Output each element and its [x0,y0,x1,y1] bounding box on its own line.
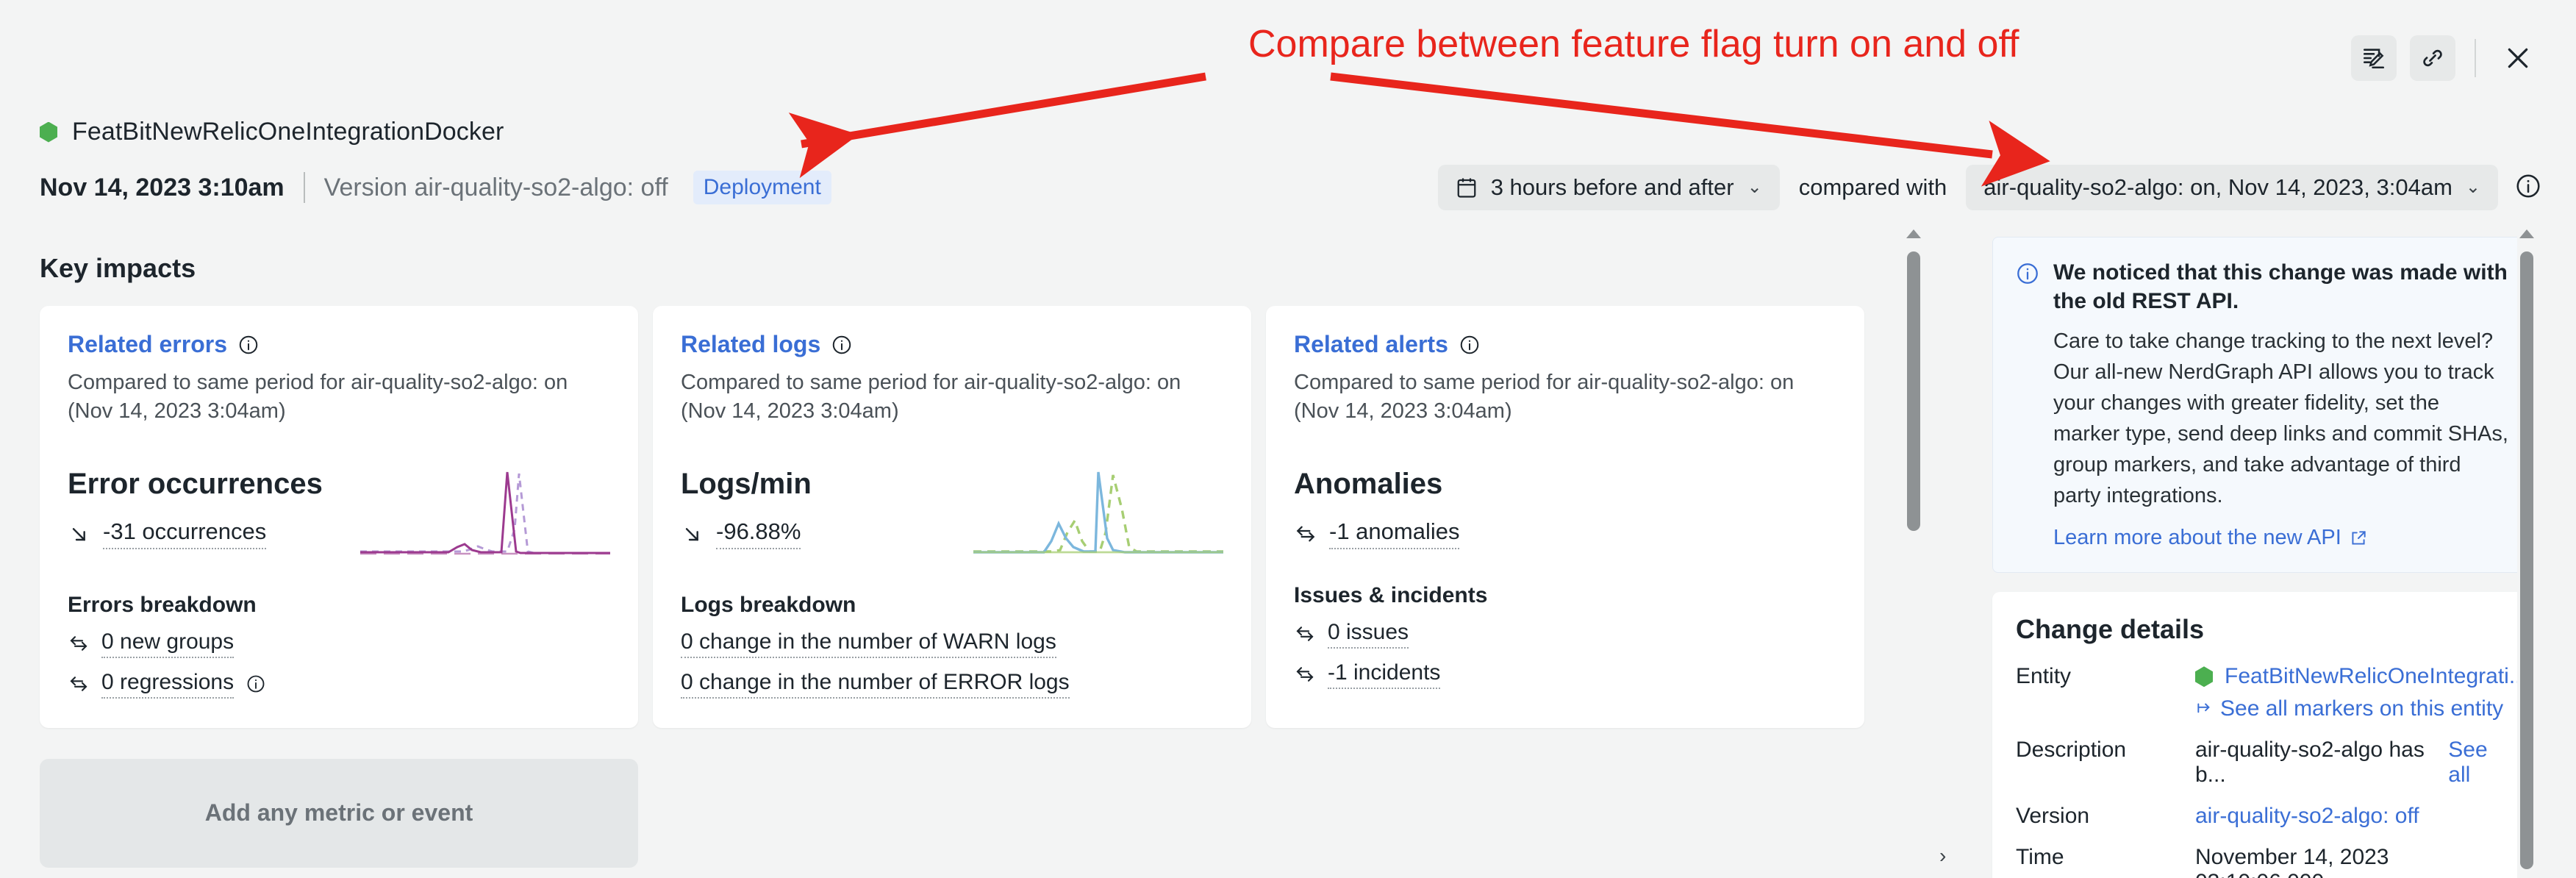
change-details-card: Change details Entity FeatBitNewRelicOne… [1992,592,2533,878]
annotation-text: Compare between feature flag turn on and… [1248,22,2019,66]
arrow-down-right-icon [68,522,91,546]
card-subtitle: Compared to same period for air-quality-… [68,368,582,426]
related-errors-link[interactable]: Related errors [68,331,260,358]
card-link-label: Related logs [681,331,820,358]
details-sidebar: We noticed that this change was made wit… [1969,221,2576,878]
card-subtitle: Compared to same period for air-quality-… [681,368,1195,426]
breakdown-label: -1 incidents [1328,660,1440,689]
compared-with-label: compared with [1780,174,1967,201]
breakdown-title: Issues & incidents [1294,583,1836,608]
card-link-label: Related errors [68,331,227,358]
change-meta-row: Nov 14, 2023 3:10am Version air-quality-… [40,168,831,207]
breakdown-item[interactable]: 0 change in the number of WARN logs [681,629,1223,658]
window-controls [2351,35,2541,81]
scroll-up-arrow-icon[interactable] [1906,229,1921,238]
change-details-title: Change details [2016,614,2510,645]
page-title: Key impacts [40,253,1892,284]
breakdown-title: Errors breakdown [68,593,610,618]
rest-api-notice: We noticed that this change was made wit… [1992,237,2533,573]
sidebar-scrollbar[interactable] [2517,229,2536,878]
info-icon[interactable] [1459,334,1481,356]
entity-status-icon [40,122,57,143]
close-icon[interactable] [2495,35,2541,81]
entity-link[interactable]: FeatBitNewRelicOneIntegrati... [2225,664,2527,689]
breakdown-item[interactable]: -1 incidents [1294,660,1836,689]
chevron-down-icon: ⌄ [1747,179,1762,196]
entity-header: FeatBitNewRelicOneIntegrationDocker [40,118,504,146]
breakdown-title: Logs breakdown [681,593,1223,618]
time-range-selector[interactable]: 3 hours before and after ⌄ [1438,165,1780,210]
arrow-flat-icon [68,673,90,695]
notice-body-text: Care to take change tracking to the next… [2053,326,2511,511]
metric-delta[interactable]: -1 anomalies [1294,518,1459,549]
metric-block: Logs/min -96.88% [681,465,1223,559]
sparkline-logs-per-min [973,465,1223,559]
info-icon[interactable] [237,334,260,356]
metric-delta[interactable]: -96.88% [681,518,812,549]
time-value: November 14, 2023 03:10:06.000 [2195,845,2510,878]
info-icon[interactable] [2514,172,2542,204]
arrow-flat-icon [1294,522,1317,546]
delta-value: -1 anomalies [1329,518,1459,549]
see-all-link[interactable]: See all [2448,738,2510,788]
sparkline-error-occurrences [360,465,610,559]
see-all-markers-label: See all markers on this entity [2220,696,2503,721]
key-impact-cards: Related errors Compared to same period f… [40,306,1892,728]
metric-delta[interactable]: -31 occurrences [68,518,323,549]
time-range-label: 3 hours before and after [1491,174,1734,201]
breakdown-item[interactable]: 0 change in the number of ERROR logs [681,670,1223,699]
expand-chevron-icon[interactable]: › [1939,844,1946,868]
main-scrollbar[interactable] [1904,229,1923,878]
delta-value: -96.88% [716,518,801,549]
metric-block: Anomalies -1 anomalies [1294,465,1836,549]
delta-value: -31 occurrences [103,518,266,549]
notice-title: We noticed that this change was made wit… [2053,258,2511,315]
metric-title: Anomalies [1294,468,1459,501]
card-subtitle: Compared to same period for air-quality-… [1294,368,1808,426]
comparison-selector[interactable]: air-quality-so2-algo: on, Nov 14, 2023, … [1966,165,2498,210]
see-all-markers-link[interactable]: See all markers on this entity [2195,696,2527,721]
status-badge: Deployment [693,171,831,204]
info-icon[interactable] [831,334,853,356]
breakdown-label: 0 new groups [101,629,234,658]
edit-note-icon[interactable] [2351,35,2397,81]
change-tracking-panel: FeatBitNewRelicOneIntegrationDocker Nov … [0,0,2576,878]
change-date: Nov 14, 2023 3:10am [40,174,285,202]
detail-row-entity: Entity FeatBitNewRelicOneIntegrati... Se… [2016,664,2510,721]
scroll-up-arrow-icon[interactable] [2519,229,2534,238]
external-link-icon [2349,529,2368,548]
detail-label: Entity [2016,664,2195,689]
learn-more-link[interactable]: Learn more about the new API [2053,526,2368,550]
related-alerts-link[interactable]: Related alerts [1294,331,1481,358]
arrow-flat-icon [1294,623,1316,645]
scrollbar-thumb[interactable] [1907,251,1920,531]
arrow-branch-icon [2195,699,2214,718]
breakdown-item[interactable]: 0 new groups [68,629,610,658]
version-link[interactable]: air-quality-so2-algo: off [2195,804,2510,829]
entity-status-icon [2195,666,2213,687]
info-icon[interactable] [246,674,266,694]
related-logs-link[interactable]: Related logs [681,331,853,358]
breakdown-item[interactable]: 0 issues [1294,620,1836,649]
breakdown-label: 0 change in the number of ERROR logs [681,670,1070,699]
link-icon[interactable] [2410,35,2455,81]
breakdown-label: 0 change in the number of WARN logs [681,629,1056,658]
add-metric-button[interactable]: Add any metric or event [40,759,638,868]
main-content: Key impacts Related errors Compared to s… [0,221,1892,878]
card-related-logs: Related logs Compared to same period for… [653,306,1251,728]
detail-label: Version [2016,804,2195,829]
card-related-alerts: Related alerts Compared to same period f… [1266,306,1864,728]
metric-title: Error occurrences [68,468,323,501]
detail-label: Description [2016,738,2195,763]
breakdown-item[interactable]: 0 regressions [68,670,610,699]
metric-title: Logs/min [681,468,812,501]
breakdown-label: 0 regressions [101,670,234,699]
breakdown-label: 0 issues [1328,620,1409,649]
comparison-controls: 3 hours before and after ⌄ compared with… [1438,165,2542,210]
calendar-icon [1456,175,1478,200]
comparison-value: air-quality-so2-algo: on, Nov 14, 2023, … [1983,174,2452,201]
description-value: air-quality-so2-algo has b... [2195,738,2438,788]
detail-row-version: Version air-quality-so2-algo: off [2016,804,2510,829]
toolbar-divider [2475,39,2476,77]
annotation-arrow-left [801,76,1206,144]
arrow-flat-icon [68,632,90,654]
metric-block: Error occurrences -31 occurrences [68,465,610,559]
arrow-flat-icon [1294,663,1316,685]
detail-row-description: Description air-quality-so2-algo has b..… [2016,738,2510,788]
meta-divider [304,172,305,203]
arrow-down-right-icon [681,522,704,546]
chevron-down-icon: ⌄ [2466,179,2480,196]
card-related-errors: Related errors Compared to same period f… [40,306,638,728]
info-icon [2015,261,2040,286]
entity-name: FeatBitNewRelicOneIntegrationDocker [72,118,504,146]
learn-more-label: Learn more about the new API [2053,526,2341,550]
change-version: Version air-quality-so2-algo: off [324,174,668,202]
scrollbar-thumb[interactable] [2520,251,2533,869]
annotation-arrow-right [1331,76,1992,154]
detail-row-time: Time November 14, 2023 03:10:06.000 [2016,845,2510,878]
card-link-label: Related alerts [1294,331,1448,358]
detail-label: Time [2016,845,2195,870]
